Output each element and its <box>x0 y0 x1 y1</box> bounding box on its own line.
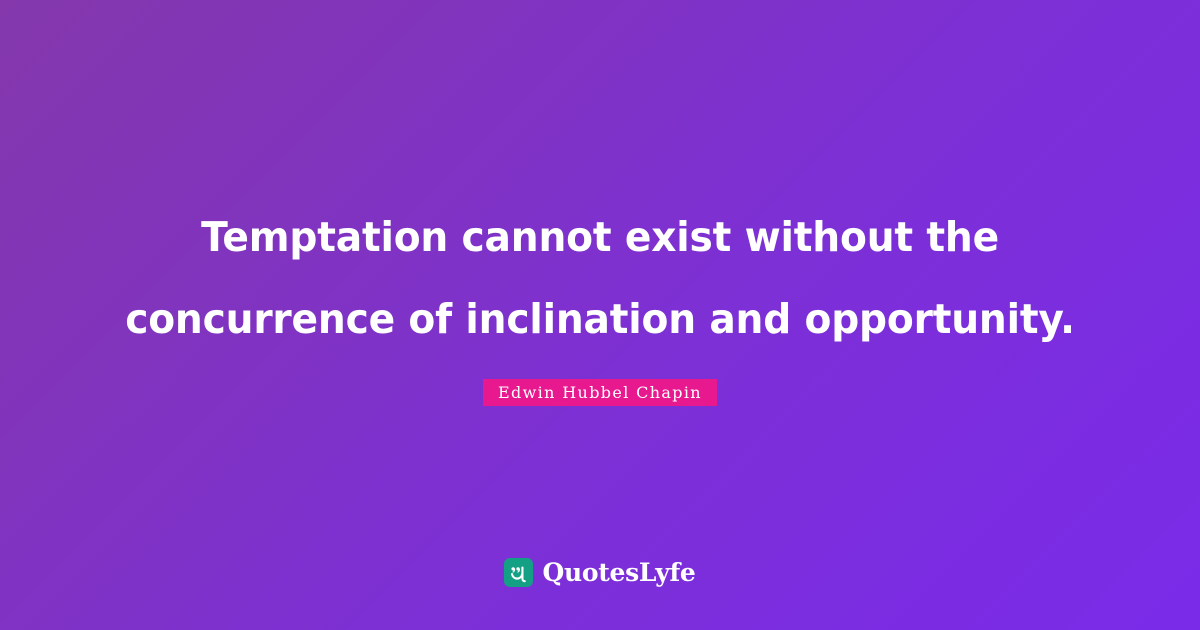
quote-text: Temptation cannot exist without the conc… <box>0 196 1200 360</box>
author-name-badge: Edwin Hubbel Chapin <box>483 379 717 406</box>
brand-name: QuotesLyfe <box>542 558 695 587</box>
quote-line-2: concurrence of inclination and opportuni… <box>84 278 1115 360</box>
quote-smiley-icon <box>504 558 533 587</box>
quote-poster: Temptation cannot exist without the conc… <box>0 0 1200 630</box>
quote-line-1: Temptation cannot exist without the <box>84 196 1115 278</box>
author-attribution: Edwin Hubbel Chapin <box>0 379 1200 406</box>
brand-logo: QuotesLyfe <box>0 558 1200 587</box>
